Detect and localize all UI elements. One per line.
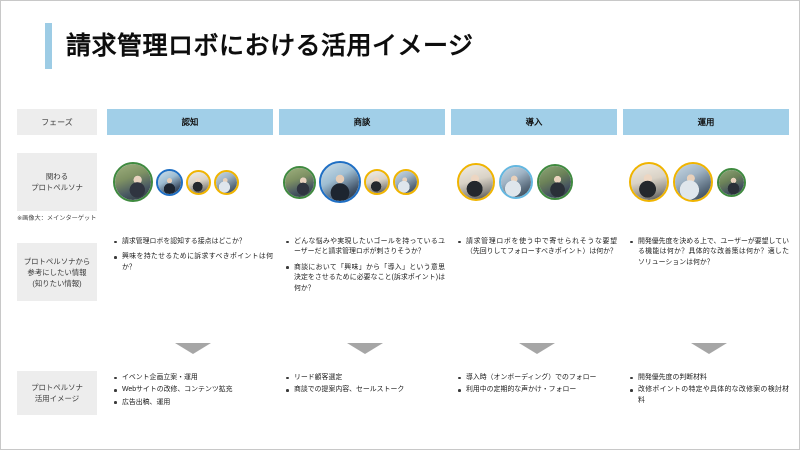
persona-group-3 bbox=[457, 157, 573, 207]
persona-group-4 bbox=[629, 157, 746, 207]
persona-note: ※画像大：メインターゲット bbox=[17, 213, 96, 222]
persona-row: 関わる プロトペルソナ ※画像大：メインターゲット bbox=[1, 153, 800, 219]
row-label-persona: 関わる プロトペルソナ bbox=[17, 153, 97, 211]
list-item: 興味を持たせるために訴求すべきポイントは何か？ bbox=[113, 252, 273, 273]
list-item: イベント企画立案・運用 bbox=[113, 373, 275, 383]
list-item: Webサイトの改修、コンテンツ拡充 bbox=[113, 385, 275, 395]
persona-avatar[interactable] bbox=[537, 164, 573, 200]
persona-photo bbox=[285, 168, 314, 197]
persona-avatar[interactable] bbox=[283, 166, 316, 199]
persona-avatar[interactable] bbox=[113, 162, 153, 202]
row-label-usage-line2: 活用イメージ bbox=[35, 393, 79, 404]
persona-photo bbox=[188, 172, 209, 193]
persona-avatar[interactable] bbox=[319, 161, 361, 203]
usage-image-list-3: 導入時（オンボーディング）でのフォロー 利用中の定期的な声かけ・フォロー bbox=[457, 373, 619, 398]
list-item: どんな悩みや実現したいゴールを持っているユーザーだと請求管理ロボが刺さりそうか？ bbox=[285, 237, 445, 258]
usage-image-list-1: イベント企画立案・運用 Webサイトの改修、コンテンツ拡充 広告出稿、運用 bbox=[113, 373, 275, 410]
phase-header-row: フェーズ 認知 商談 導入 運用 bbox=[1, 109, 800, 135]
list-item: 商談での提案内容、セールストーク bbox=[285, 385, 447, 395]
usage-image-list-2: リード顧客選定 商談での提案内容、セールストーク bbox=[285, 373, 447, 398]
persona-photo bbox=[631, 164, 667, 200]
persona-avatar[interactable] bbox=[186, 170, 211, 195]
list-item: 利用中の定期的な声かけ・フォロー bbox=[457, 385, 619, 395]
persona-group-2 bbox=[283, 157, 419, 207]
phase-cell-1[interactable]: 認知 bbox=[107, 109, 273, 135]
list-item: 請求管理ロボを認知する接点はどこか？ bbox=[113, 237, 273, 247]
persona-photo bbox=[395, 171, 417, 193]
persona-photo bbox=[539, 166, 571, 198]
persona-photo bbox=[675, 164, 711, 200]
persona-photo bbox=[501, 167, 531, 197]
persona-avatar[interactable] bbox=[457, 163, 495, 201]
list-item: 開発優先度を決める上で、ユーザーが要望している機能は何か？具体的な改善策は何か？… bbox=[629, 237, 789, 268]
arrow-down-icon-4 bbox=[691, 343, 727, 354]
row-label-wanted-line2: 参考にしたい情報 bbox=[27, 267, 86, 278]
usage-image-list-4: 開発優先度の判断材料 改修ポイントの特定や具体的な改修案の検討材料 bbox=[629, 373, 789, 408]
row-label-phase: フェーズ bbox=[17, 109, 97, 135]
wanted-info-row: プロトペルソナから 参考にしたい情報 (知りたい情報) 請求管理ロボを認知する接… bbox=[1, 237, 800, 337]
persona-photo bbox=[216, 172, 237, 193]
phase-cell-2[interactable]: 商談 bbox=[279, 109, 445, 135]
persona-avatar[interactable] bbox=[717, 168, 746, 197]
phase-cell-4[interactable]: 運用 bbox=[623, 109, 789, 135]
persona-avatar[interactable] bbox=[499, 165, 533, 199]
usage-image-row: プロトペルソナ 活用イメージ イベント企画立案・運用 Webサイトの改修、コンテ… bbox=[1, 371, 800, 431]
row-label-usage-image: プロトペルソナ 活用イメージ bbox=[17, 371, 97, 415]
title-accent-bar bbox=[45, 23, 52, 69]
persona-avatar[interactable] bbox=[364, 169, 390, 195]
persona-avatar[interactable] bbox=[214, 170, 239, 195]
arrow-down-icon-1 bbox=[175, 343, 211, 354]
row-label-wanted-line1: プロトペルソナから bbox=[24, 256, 91, 267]
row-label-persona-line2: プロトペルソナ bbox=[31, 182, 83, 193]
persona-photo bbox=[459, 165, 493, 199]
arrow-down-icon-3 bbox=[519, 343, 555, 354]
persona-avatar[interactable] bbox=[629, 162, 669, 202]
phase-cell-3[interactable]: 導入 bbox=[451, 109, 617, 135]
wanted-info-list-1: 請求管理ロボを認知する接点はどこか？ 興味を持たせるために訴求すべきポイントは何… bbox=[113, 237, 273, 278]
persona-photo bbox=[366, 171, 388, 193]
persona-avatar[interactable] bbox=[673, 162, 713, 202]
list-item: 請求管理ロボを使う中で寄せられそうな要望（先回りしてフォローすべきポイント）は何… bbox=[457, 237, 617, 258]
arrow-down-icon-2 bbox=[347, 343, 383, 354]
list-item: 商談において「興味」から「導入」という意思決定をさせるために必要なこと(訴求ポイ… bbox=[285, 263, 445, 294]
row-label-wanted-line3: (知りたい情報) bbox=[32, 278, 81, 289]
wanted-info-list-4: 開発優先度を決める上で、ユーザーが要望している機能は何か？具体的な改善策は何か？… bbox=[629, 237, 789, 273]
list-item: 開発優先度の判断材料 bbox=[629, 373, 789, 383]
persona-photo bbox=[321, 163, 359, 201]
list-item: 広告出稿、運用 bbox=[113, 398, 275, 408]
persona-photo bbox=[719, 170, 744, 195]
list-item: リード顧客選定 bbox=[285, 373, 447, 383]
persona-avatar[interactable] bbox=[156, 169, 183, 196]
wanted-info-list-2: どんな悩みや実現したいゴールを持っているユーザーだと請求管理ロボが刺さりそうか？… bbox=[285, 237, 445, 299]
persona-photo bbox=[158, 171, 181, 194]
page-title: 請求管理ロボにおける活用イメージ bbox=[45, 23, 474, 69]
persona-group-1 bbox=[113, 157, 239, 207]
list-item: 導入時（オンボーディング）でのフォロー bbox=[457, 373, 619, 383]
slide-canvas: 請求管理ロボにおける活用イメージ フェーズ 認知 商談 導入 運用 関わる プロ… bbox=[0, 0, 800, 450]
list-item: 改修ポイントの特定や具体的な改修案の検討材料 bbox=[629, 385, 789, 406]
row-label-usage-line1: プロトペルソナ bbox=[31, 382, 83, 393]
row-label-persona-line1: 関わる bbox=[46, 171, 68, 182]
persona-photo bbox=[115, 164, 151, 200]
row-label-wanted-info: プロトペルソナから 参考にしたい情報 (知りたい情報) bbox=[17, 243, 97, 301]
persona-avatar[interactable] bbox=[393, 169, 419, 195]
title-text: 請求管理ロボにおける活用イメージ bbox=[52, 23, 474, 69]
wanted-info-list-3: 請求管理ロボを使う中で寄せられそうな要望（先回りしてフォローすべきポイント）は何… bbox=[457, 237, 617, 263]
